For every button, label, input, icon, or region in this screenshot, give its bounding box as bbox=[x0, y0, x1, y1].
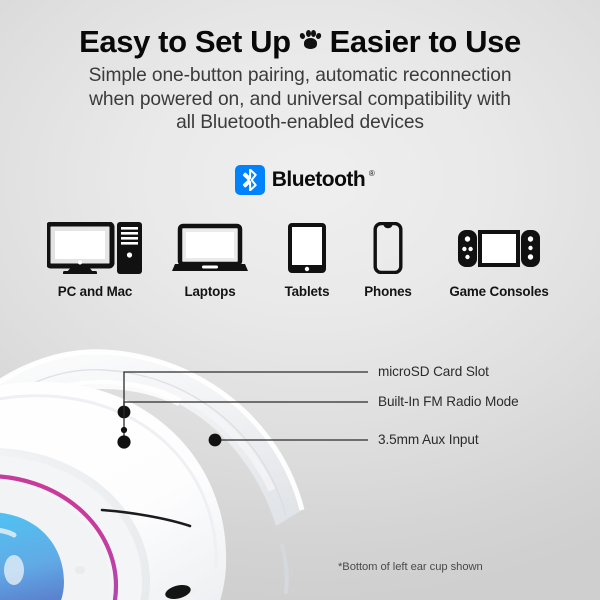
subtitle-line-1: Simple one-button pairing, automatic rec… bbox=[22, 64, 578, 88]
bluetooth-wordmark: Bluetooth® bbox=[272, 168, 365, 192]
callout-label-microsd: microSD Card Slot bbox=[378, 364, 489, 379]
registered-trademark-symbol: ® bbox=[369, 169, 374, 178]
device-item-phones: Phones bbox=[340, 222, 436, 299]
headline-right-text: Easier to Use bbox=[330, 24, 521, 59]
callout-label-aux: 3.5mm Aux Input bbox=[378, 432, 479, 447]
smartphone-icon bbox=[340, 222, 436, 274]
laptop-icon bbox=[150, 222, 270, 274]
callout-dot-aux bbox=[209, 434, 222, 447]
callout-leader-microsd bbox=[118, 372, 368, 418]
infographic-canvas: Easy to Set UpEasier to Use Simple one-b… bbox=[0, 0, 600, 600]
bluetooth-wordmark-text: Bluetooth bbox=[272, 168, 365, 191]
feature-callouts: microSD Card Slot Built-In FM Radio Mode… bbox=[0, 330, 600, 470]
subtitle-line-2: when powered on, and universal compatibi… bbox=[22, 88, 578, 112]
device-item-game-consoles: Game Consoles bbox=[425, 222, 573, 299]
device-item-pc-and-mac: PC and Mac bbox=[25, 222, 165, 299]
callout-label-fm-radio: Built-In FM Radio Mode bbox=[378, 394, 519, 409]
callout-leader-aux bbox=[209, 434, 368, 447]
footnote-text: *Bottom of left ear cup shown bbox=[338, 561, 483, 573]
desktop-monitor-and-tower-icon bbox=[25, 222, 165, 274]
handheld-game-console-icon bbox=[425, 222, 573, 274]
device-label-phones: Phones bbox=[340, 284, 436, 299]
page-subtitle: Simple one-button pairing, automatic rec… bbox=[22, 64, 578, 135]
bluetooth-badge: Bluetooth® bbox=[0, 165, 600, 195]
paw-print-icon bbox=[300, 30, 321, 50]
subtitle-line-3: all Bluetooth-enabled devices bbox=[22, 111, 578, 135]
fm-radio-button bbox=[75, 566, 85, 574]
page-title: Easy to Set UpEasier to Use bbox=[0, 22, 600, 60]
compatible-devices-row: PC and Mac Laptops bbox=[0, 222, 600, 312]
headline-left-text: Easy to Set Up bbox=[79, 24, 290, 59]
bluetooth-icon bbox=[235, 165, 265, 195]
device-item-laptops: Laptops bbox=[150, 222, 270, 299]
device-label-pc-and-mac: PC and Mac bbox=[25, 284, 165, 299]
device-label-game-consoles: Game Consoles bbox=[425, 284, 573, 299]
device-label-laptops: Laptops bbox=[150, 284, 270, 299]
callout-leader-fm-radio bbox=[117, 402, 368, 449]
callout-dot-fm-radio-small bbox=[121, 427, 127, 433]
callout-dot-fm-radio bbox=[117, 435, 130, 448]
